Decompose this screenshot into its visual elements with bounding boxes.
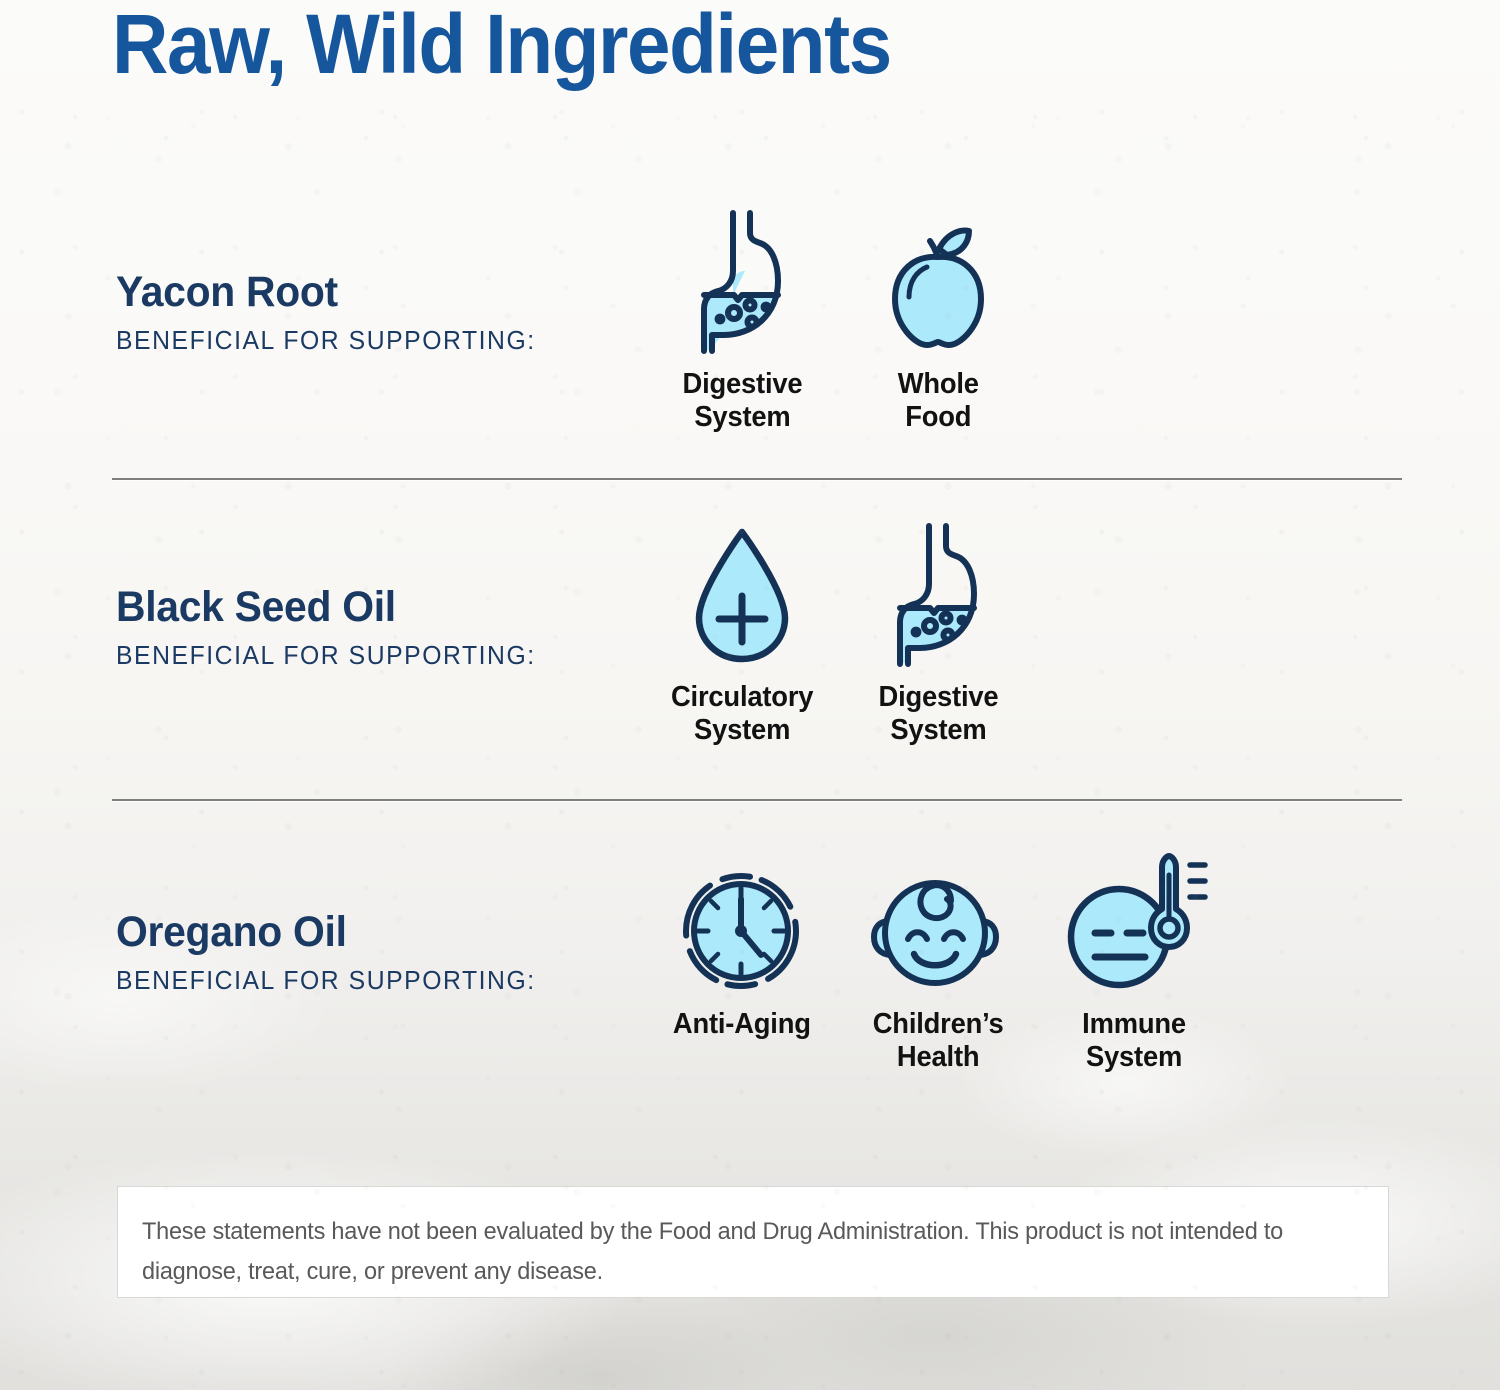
benefit-label: Anti-Aging — [673, 1008, 811, 1041]
ingredient-subtitle: BENEFICIAL FOR SUPPORTING: — [116, 327, 536, 356]
benefit-item-whole-food: Whole Food — [840, 205, 1036, 435]
stomach-icon — [878, 518, 998, 668]
page-title: Raw, Wild Ingredients — [112, 0, 891, 93]
benefit-icon-group: Digestive System — [644, 205, 1036, 435]
benefit-item-anti-aging: Anti-Aging — [644, 845, 840, 1075]
ingredient-name: Black Seed Oil — [116, 583, 527, 632]
ingredient-text-block: Oregano Oil BENEFICIAL FOR SUPPORTING: — [116, 908, 549, 996]
benefit-item-immune-system: Immune System — [1036, 845, 1232, 1075]
section-divider — [112, 478, 1402, 480]
baby-face-icon — [868, 845, 1008, 995]
benefit-label: Digestive System — [682, 368, 802, 435]
disclaimer-text: These statements have not been evaluated… — [142, 1212, 1319, 1291]
benefit-label: Circulatory System — [671, 681, 813, 748]
benefit-item-digestive-system: Digestive System — [840, 518, 1036, 748]
blood-drop-plus-icon — [677, 518, 807, 668]
benefit-label: Digestive System — [878, 681, 998, 748]
ingredient-subtitle: BENEFICIAL FOR SUPPORTING: — [116, 967, 536, 996]
stomach-icon — [682, 205, 802, 355]
benefit-label: Immune System — [1082, 1008, 1186, 1075]
benefit-item-circulatory-system: Circulatory System — [644, 518, 840, 748]
ingredient-name: Yacon Root — [116, 268, 527, 317]
benefit-icon-group: Anti-Aging — [644, 845, 1232, 1075]
benefit-label: Whole Food — [897, 368, 978, 435]
clock-icon — [675, 845, 810, 995]
benefit-item-digestive-system: Digestive System — [644, 205, 840, 435]
apple-icon — [873, 205, 1003, 355]
ingredient-name: Oregano Oil — [116, 908, 527, 957]
disclaimer-box: These statements have not been evaluated… — [117, 1186, 1389, 1298]
thermometer-face-icon — [1059, 845, 1209, 995]
ingredient-subtitle: BENEFICIAL FOR SUPPORTING: — [116, 642, 536, 671]
ingredients-infographic: Raw, Wild Ingredients Yacon Root BENEFIC… — [0, 0, 1500, 1390]
ingredient-text-block: Black Seed Oil BENEFICIAL FOR SUPPORTING… — [116, 583, 549, 671]
ingredient-text-block: Yacon Root BENEFICIAL FOR SUPPORTING: — [116, 268, 549, 356]
section-divider — [112, 799, 1402, 801]
benefit-icon-group: Circulatory System — [644, 518, 1036, 748]
benefit-item-childrens-health: Children’s Health — [840, 845, 1036, 1075]
benefit-label: Children’s Health — [873, 1008, 1004, 1075]
